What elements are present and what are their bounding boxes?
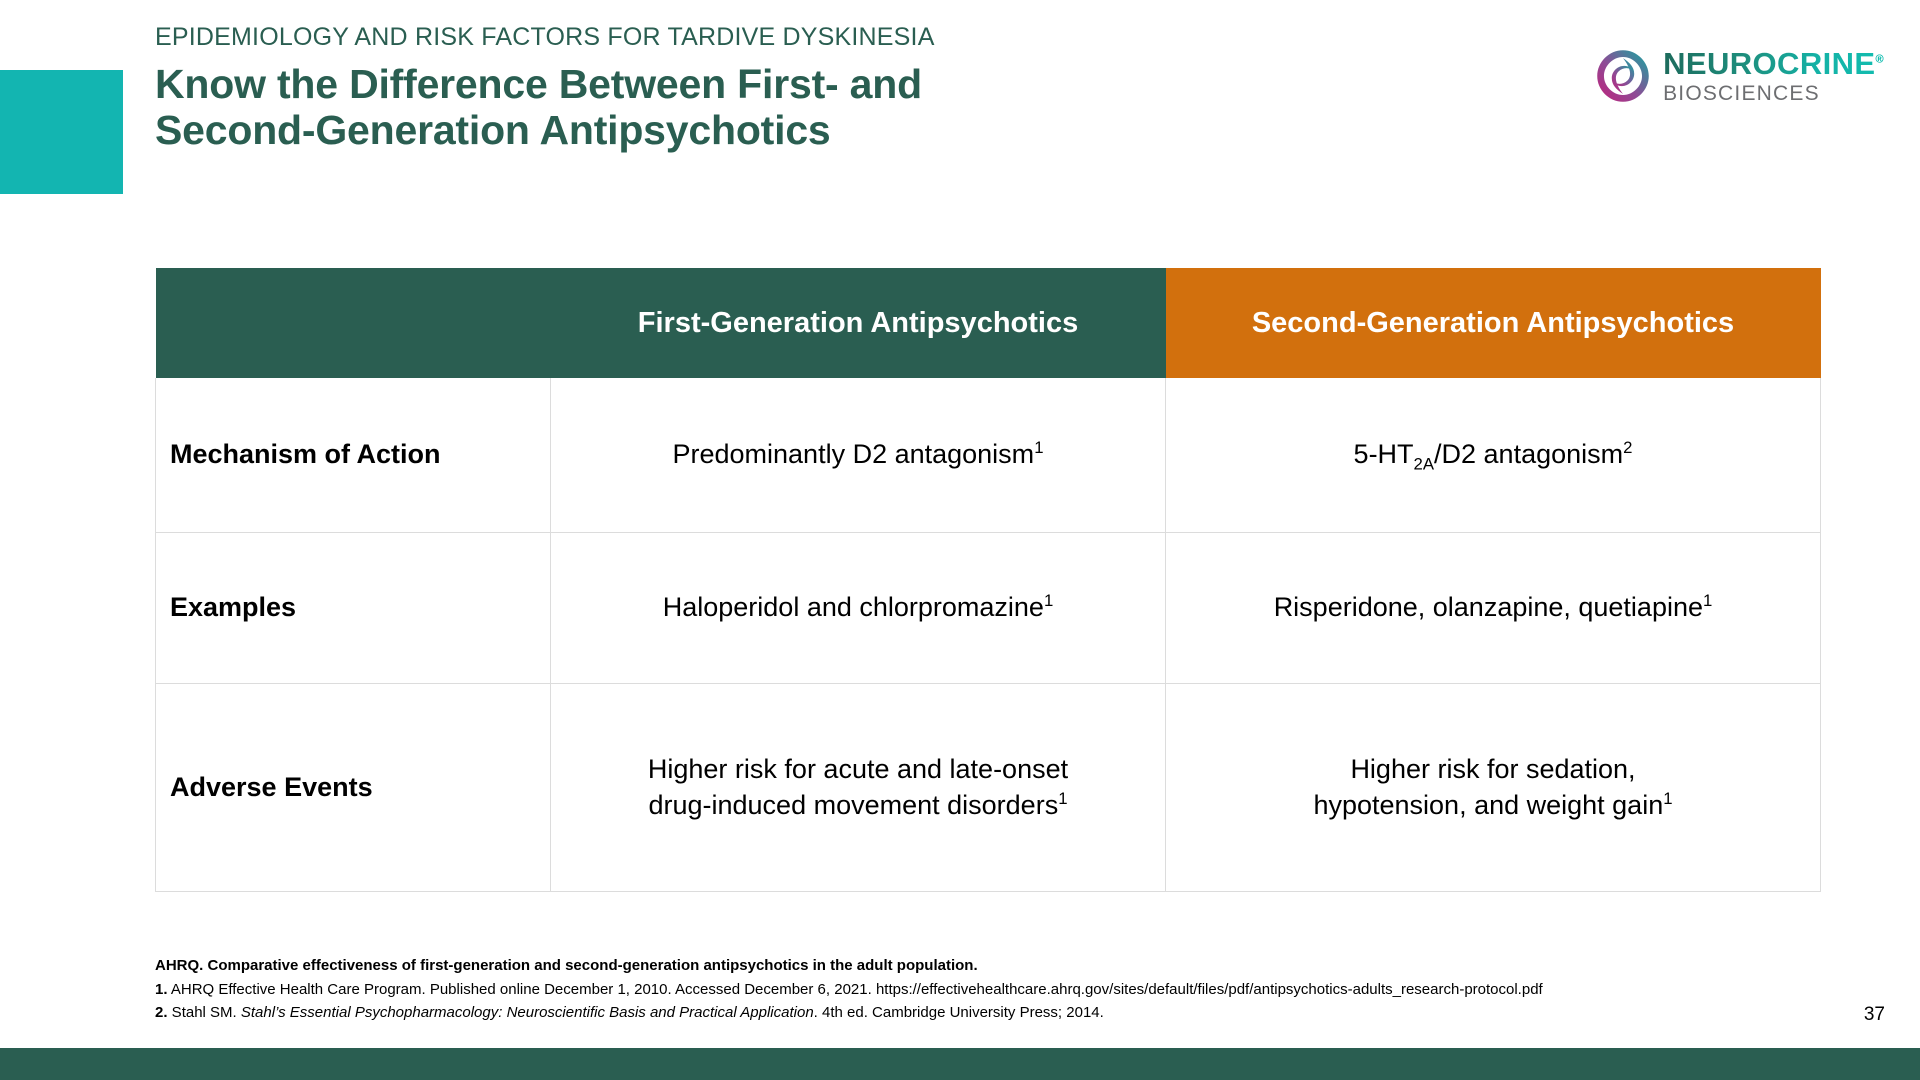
footnote-marker: 1 [1034, 438, 1043, 457]
logo-company-name: NEUROCRINE® [1663, 48, 1884, 79]
neurocrine-swirl-icon [1595, 48, 1651, 104]
footnote-marker: 1 [1044, 591, 1053, 610]
table-header-blank [156, 268, 551, 378]
footnote-marker: 1 [1703, 591, 1712, 610]
comparison-table: First-Generation Antipsychotics Second-G… [155, 268, 1821, 892]
table-row: Mechanism of Action Predominantly D2 ant… [156, 378, 1821, 533]
table-header-first-generation: First-Generation Antipsychotics [551, 268, 1166, 378]
table-header-second-generation: Second-Generation Antipsychotics [1166, 268, 1821, 378]
logo-subtitle: BIOSCIENCES [1663, 83, 1884, 104]
slide-header: EPIDEMIOLOGY AND RISK FACTORS FOR TARDIV… [155, 22, 1335, 154]
page-title-line-1: Know the Difference Between First- and [155, 62, 1335, 108]
cell-mechanism-second-generation: 5-HT2A/D2 antagonism2 [1166, 378, 1821, 533]
footnotes-block: AHRQ. Comparative effectiveness of first… [155, 955, 1795, 1024]
slide-eyebrow: EPIDEMIOLOGY AND RISK FACTORS FOR TARDIV… [155, 22, 1335, 52]
footnote-marker: 2 [1623, 438, 1632, 457]
title-accent-square [0, 70, 123, 194]
page-title-line-2: Second-Generation Antipsychotics [155, 108, 1335, 154]
row-label-examples: Examples [156, 533, 551, 684]
row-label-adverse-events: Adverse Events [156, 684, 551, 892]
comparison-table-wrapper: First-Generation Antipsychotics Second-G… [155, 268, 1820, 892]
footer-bar [0, 1048, 1920, 1080]
cell-examples-first-generation: Haloperidol and chlorpromazine1 [551, 533, 1166, 684]
logo-wordmark: NEUROCRINE® BIOSCIENCES [1663, 48, 1884, 104]
neurocrine-logo: NEUROCRINE® BIOSCIENCES [1595, 48, 1884, 104]
cell-examples-second-generation: Risperidone, olanzapine, quetiapine1 [1166, 533, 1821, 684]
table-row: Adverse Events Higher risk for acute and… [156, 684, 1821, 892]
footnote-source: AHRQ. Comparative effectiveness of first… [155, 955, 1795, 978]
cell-adverse-events-second-generation: Higher risk for sedation, hypotension, a… [1166, 684, 1821, 892]
page-number: 37 [1864, 1004, 1885, 1026]
cell-adverse-events-first-generation: Higher risk for acute and late-onset dru… [551, 684, 1166, 892]
registered-trademark-icon: ® [1875, 54, 1884, 66]
chemical-subscript: 2A [1414, 455, 1434, 474]
footnote-reference-1: 1. AHRQ Effective Health Care Program. P… [155, 978, 1795, 1001]
table-header-row: First-Generation Antipsychotics Second-G… [156, 268, 1821, 378]
footnote-marker: 1 [1058, 789, 1067, 808]
table-row: Examples Haloperidol and chlorpromazine1… [156, 533, 1821, 684]
cell-mechanism-first-generation: Predominantly D2 antagonism1 [551, 378, 1166, 533]
footnote-marker: 1 [1663, 789, 1672, 808]
footnote-reference-2: 2. Stahl SM. Stahl’s Essential Psychopha… [155, 1001, 1795, 1024]
page-title: Know the Difference Between First- and S… [155, 62, 1335, 154]
row-label-mechanism-of-action: Mechanism of Action [156, 378, 551, 533]
